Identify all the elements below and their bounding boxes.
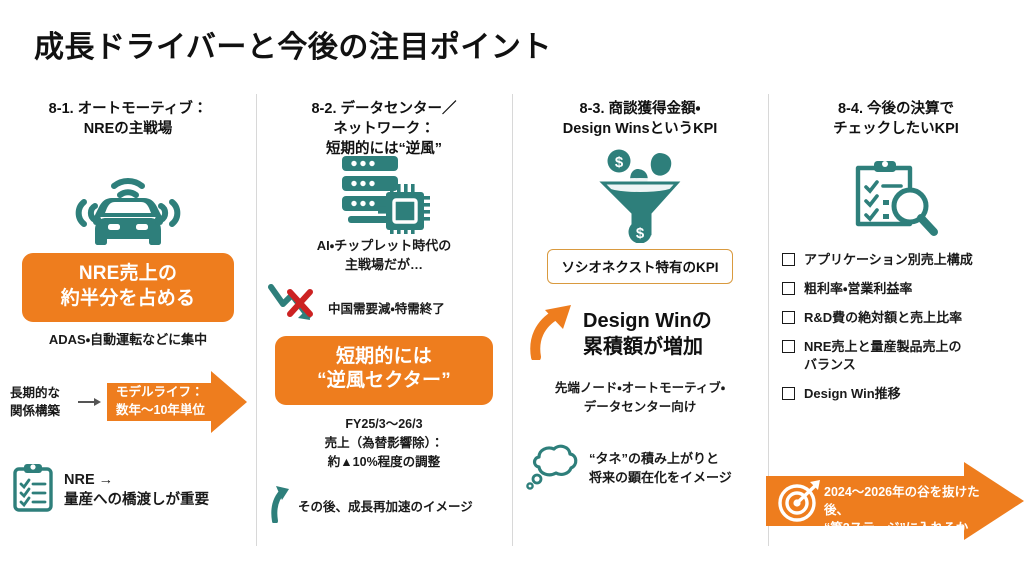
second-stage-banner: 2024〜2026年の谷を抜けた後、 “第2ステージ”に入れるか bbox=[766, 462, 1024, 540]
svg-text:$: $ bbox=[636, 225, 645, 242]
caption-ai-chiplet: AI・チップレット時代の 主戦場だが… bbox=[317, 237, 451, 275]
nre-bridge-text: NRE → 量産への橋渡しが重要 bbox=[64, 470, 209, 510]
check-label-line-1: R&D費の絶対額と売上比率 bbox=[804, 310, 962, 325]
long-term-relationship-label: 長期的な 関係構築 bbox=[10, 384, 76, 420]
unique-kpi-box: ソシオネクスト特有のKPI bbox=[547, 249, 732, 284]
list-item[interactable]: アプリケーション別売上構成 bbox=[782, 251, 1014, 269]
heading-line-2: チェックしたいKPI bbox=[833, 119, 959, 139]
second-stage-text: 2024〜2026年の谷を抜けた後、 “第2ステージ”に入れるか bbox=[824, 483, 984, 537]
caption-line-2: 主戦場だが… bbox=[317, 256, 451, 275]
heading-line-1: 8-1. オートモーティブ： bbox=[49, 99, 208, 119]
orange-block-arrow: モデルライフ： 数年〜10年単位 bbox=[107, 371, 246, 433]
badge-line-1: 短期的には bbox=[291, 345, 477, 370]
nre-bridge-line-1: NRE → bbox=[64, 472, 113, 488]
model-life-label: モデルライフ： 数年〜10年単位 bbox=[107, 384, 215, 420]
model-life-line-2: 数年〜10年単位 bbox=[116, 402, 215, 420]
caption-line-1: AI・チップレット時代の bbox=[317, 237, 451, 256]
column-heading-automotive: 8-1. オートモーティブ： NREの主戦場 bbox=[49, 99, 208, 155]
growth-line-1: Design Winの bbox=[583, 310, 712, 332]
list-item[interactable]: NRE売上と量産製品売上の バランス bbox=[782, 338, 1014, 374]
car-sensor-icon bbox=[62, 157, 194, 249]
badge-line-2: “逆風セクター” bbox=[291, 369, 477, 394]
nre-bridge-row: NRE → 量産への橋渡しが重要 bbox=[12, 462, 244, 517]
check-label: アプリケーション別売上構成 bbox=[804, 251, 973, 269]
check-label-line-1: NRE売上と量産製品売上の bbox=[804, 339, 961, 354]
design-win-growth-text: Design Winの 累積額が増加 bbox=[583, 308, 712, 360]
model-life-line-1: モデルライフ： bbox=[116, 384, 215, 402]
caption-line-2: データセンター向け bbox=[555, 398, 725, 417]
declining-arrow-with-x-icon bbox=[268, 282, 322, 333]
target-dart-icon bbox=[776, 479, 822, 528]
highlight-badge-nre-share: NRE売上の 約半分を占める bbox=[22, 253, 234, 322]
slide-root: 成長ドライバーと今後の注目ポイント 8-1. オートモーティブ： NREの主戦場 bbox=[0, 0, 1024, 572]
server-chip-icon bbox=[338, 155, 430, 233]
check-label-line-1: Design Win推移 bbox=[804, 386, 901, 401]
china-demand-text: 中国需要減・特需終了 bbox=[328, 298, 445, 317]
list-item[interactable]: R&D費の絶対額と売上比率 bbox=[782, 309, 1014, 327]
check-label: R&D費の絶対額と売上比率 bbox=[804, 309, 962, 327]
list-item[interactable]: Design Win推移 bbox=[782, 385, 1014, 403]
design-win-growth-row: Design Winの 累積額が増加 bbox=[523, 302, 757, 365]
column-heading-datacenter: 8-2. データセンター／ ネットワーク： 短期的には“逆風” bbox=[311, 99, 456, 159]
list-item[interactable]: 粗利率・営業利益率 bbox=[782, 280, 1014, 298]
badge-line-1: NRE売上の bbox=[38, 262, 218, 287]
checkbox-icon[interactable] bbox=[782, 282, 795, 295]
caption-adas: ADAS・自動運転などに集中 bbox=[49, 331, 207, 350]
fy-detail-text: FY25/3〜26/3 売上（為替影響除）： 約▲10%程度の調整 bbox=[325, 415, 444, 471]
thought-cloud-icon bbox=[525, 443, 581, 496]
seed-accumulation-row: “タネ”の積み上がりと 将来の顕在化をイメージ bbox=[521, 443, 759, 496]
nre-bridge-line-2: 量産への橋渡しが重要 bbox=[64, 492, 209, 508]
checkbox-icon[interactable] bbox=[782, 311, 795, 324]
check-label: NRE売上と量産製品売上の バランス bbox=[804, 338, 961, 374]
badge-line-2: 約半分を占める bbox=[38, 287, 218, 312]
heading-line-2: ネットワーク： bbox=[311, 119, 456, 139]
heading-line-1: 8-3. 商談獲得金額・ bbox=[563, 99, 718, 119]
check-label-line-1: アプリケーション別売上構成 bbox=[804, 252, 973, 267]
check-label-line-2: バランス bbox=[804, 357, 856, 372]
heading-line-2: NREの主戦場 bbox=[49, 119, 208, 139]
checkbox-icon[interactable] bbox=[782, 253, 795, 266]
caption-line-1: 先端ノード・オートモーティブ・ bbox=[555, 379, 725, 398]
svg-text:$: $ bbox=[615, 154, 624, 171]
check-label: Design Win推移 bbox=[804, 385, 901, 403]
check-label: 粗利率・営業利益率 bbox=[804, 280, 912, 298]
column-heading-kpi-checklist: 8-4. 今後の決算で チェックしたいKPI bbox=[833, 99, 959, 155]
column-datacenter: 8-2. データセンター／ ネットワーク： 短期的には“逆風” bbox=[256, 90, 512, 550]
small-right-arrow-icon bbox=[78, 396, 104, 408]
growth-line-2: 累積額が増加 bbox=[583, 336, 703, 358]
check-label-line-1: 粗利率・営業利益率 bbox=[804, 281, 912, 296]
label-line-2: 関係構築 bbox=[10, 402, 76, 420]
checkbox-icon[interactable] bbox=[782, 387, 795, 400]
clipboard-magnifier-icon bbox=[852, 151, 940, 243]
column-design-wins: 8-3. 商談獲得金額・ Design WinsというKPI $ $ ソシオネク… bbox=[512, 90, 768, 550]
upward-arrow-icon bbox=[267, 483, 293, 528]
reacceleration-text: その後、成長再加速のイメージ bbox=[298, 496, 473, 515]
heading-line-1: 8-4. 今後の決算で bbox=[833, 99, 959, 119]
model-life-arrow-row: 長期的な 関係構築 モデルライフ： 数年〜10年単位 bbox=[10, 370, 246, 434]
kpi-checklist: アプリケーション別売上構成 粗利率・営業利益率 R&D費の絶対額と売上比率 bbox=[778, 251, 1014, 403]
clipboard-check-icon bbox=[12, 462, 54, 517]
funnel-dollar-icon: $ $ bbox=[597, 149, 683, 241]
checkbox-icon[interactable] bbox=[782, 340, 795, 353]
china-demand-row: 中国需要減・特需終了 bbox=[266, 282, 502, 333]
column-automotive: 8-1. オートモーティブ： NREの主戦場 bbox=[0, 90, 256, 550]
detail-line-2: 売上（為替影響除）： bbox=[325, 434, 444, 453]
label-line-1: 長期的な bbox=[10, 384, 76, 402]
page-title: 成長ドライバーと今後の注目ポイント bbox=[34, 22, 552, 66]
seed-line-2: 将来の顕在化をイメージ bbox=[589, 470, 732, 485]
banner-line-1: 2024〜2026年の谷を抜けた後、 bbox=[824, 483, 984, 519]
detail-line-3: 約▲10%程度の調整 bbox=[325, 453, 444, 472]
highlight-badge-headwind: 短期的には “逆風セクター” bbox=[275, 336, 493, 405]
seed-line-1: “タネ”の積み上がりと bbox=[589, 451, 719, 466]
detail-line-1: FY25/3〜26/3 bbox=[325, 415, 444, 434]
seed-accumulation-text: “タネ”の積み上がりと 将来の顕在化をイメージ bbox=[589, 450, 732, 488]
heading-line-1: 8-2. データセンター／ bbox=[311, 99, 456, 119]
reacceleration-row: その後、成長再加速のイメージ bbox=[265, 483, 503, 528]
caption-target-segments: 先端ノード・オートモーティブ・ データセンター向け bbox=[555, 379, 725, 417]
heading-line-2: Design WinsというKPI bbox=[563, 119, 718, 139]
banner-line-2: “第2ステージ”に入れるか bbox=[824, 519, 984, 537]
orange-curved-up-arrow-icon bbox=[529, 302, 577, 365]
